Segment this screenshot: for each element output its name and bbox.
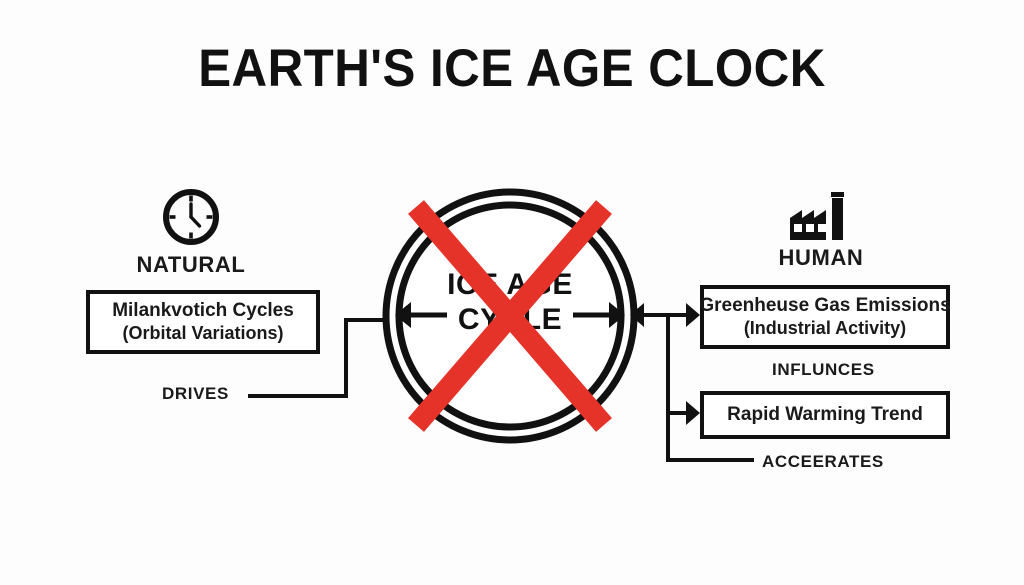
right-column-heading: HUMAN — [706, 245, 936, 271]
connector-human-network — [628, 300, 828, 472]
ice-age-cycle-graphic: ICE AGE CYCLE — [376, 182, 644, 450]
left-column-heading: NATURAL — [80, 252, 302, 278]
infographic-canvas: EARTH'S ICE AGE CLOCK NATURAL Milankvoti… — [0, 0, 1024, 585]
red-cross-out-icon — [376, 182, 644, 450]
label-drives: DRIVES — [162, 384, 229, 404]
label-accelerates: ACCEERATES — [762, 452, 884, 472]
page-title: EARTH'S ICE AGE CLOCK — [36, 38, 988, 99]
clock-icon — [160, 186, 222, 248]
factory-icon — [788, 192, 846, 242]
